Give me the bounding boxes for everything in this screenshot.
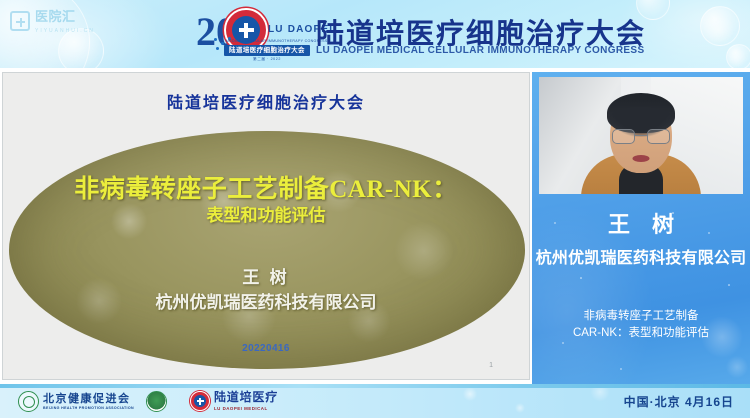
speaker-video-feed[interactable] bbox=[539, 77, 743, 194]
slide-author: 王 树 bbox=[3, 263, 529, 288]
speaker-topic-line2: CAR-NK：表型和功能评估 bbox=[532, 324, 750, 340]
medical-cross-icon bbox=[199, 398, 201, 405]
sponsor-name-en: LU DAOPEI MEDICAL bbox=[214, 406, 278, 411]
event-location-date: 中国·北京 4月16日 bbox=[624, 393, 734, 410]
decorative-bubble bbox=[700, 6, 740, 46]
sponsor-logo-lu-daopei: 陆道培医疗 LU DAOPEI MEDICAL bbox=[190, 391, 278, 411]
speaker-mouth bbox=[633, 155, 650, 162]
site-logo-name: 医院汇 bbox=[35, 9, 76, 24]
footer-bar: 北京健康促进会 BEIJING HEALTH PROMOTION ASSOCIA… bbox=[0, 384, 750, 418]
emblem-congress-en: MEDICAL CELLULAR IMMUNOTHERAPY CONGRESS bbox=[226, 39, 328, 43]
lu-daopei-badge-icon bbox=[190, 391, 210, 411]
slide-title: 非病毒转座子工艺制备CAR-NK： bbox=[3, 169, 529, 205]
speaker-panel: 王 树 杭州优凯瑞医药科技有限公司 非病毒转座子工艺制备 CAR-NK：表型和功… bbox=[532, 72, 750, 384]
site-watermark-logo: 医院汇 YIYUANHUI.CN bbox=[10, 6, 110, 36]
sponsor-logo-green-emblem bbox=[146, 391, 167, 412]
sponsor-name-en: BEIJING HEALTH PROMOTION ASSOCIATION bbox=[43, 406, 134, 410]
speaker-topic-line1: 非病毒转座子工艺制备 bbox=[532, 307, 750, 323]
stage-area: 陆道培医疗细胞治疗大会 非病毒转座子工艺制备CAR-NK： 表型和功能评估 王 … bbox=[0, 68, 750, 384]
presentation-slide[interactable]: 陆道培医疗细胞治疗大会 非病毒转座子工艺制备CAR-NK： 表型和功能评估 王 … bbox=[2, 72, 530, 380]
emblem-edition: 第二届 · 2022 bbox=[224, 57, 310, 62]
slide-organization: 杭州优凯瑞医药科技有限公司 bbox=[3, 288, 529, 313]
slide-date: 20220416 bbox=[3, 343, 529, 354]
ellipse-vignette bbox=[9, 131, 525, 369]
header-title-en: LU DAOPEI MEDICAL CELLULAR IMMUNOTHERAPY… bbox=[316, 45, 644, 56]
speaker-organization: 杭州优凯瑞医药科技有限公司 bbox=[532, 244, 750, 268]
slide-subtitle: 表型和功能评估 bbox=[3, 201, 529, 226]
decorative-bubble bbox=[726, 44, 750, 68]
slide-cell-image-ellipse bbox=[9, 131, 525, 369]
sponsor-logo-beijing-health: 北京健康促进会 BEIJING HEALTH PROMOTION ASSOCIA… bbox=[18, 391, 134, 412]
slide-page-number: 1 bbox=[489, 362, 493, 369]
slide-canvas: 陆道培医疗细胞治疗大会 非病毒转座子工艺制备CAR-NK： 表型和功能评估 王 … bbox=[3, 73, 529, 379]
green-emblem-icon bbox=[146, 391, 167, 412]
emblem-congress-cn: 陆道培医疗细胞治疗大会 bbox=[224, 45, 310, 56]
sponsor-name-cn: 北京健康促进会 bbox=[43, 393, 134, 405]
congress-emblem: 20 LU DAOPEI MEDICAL CELLULAR IMMUNOTHER… bbox=[196, 6, 314, 64]
header-banner: 医院汇 YIYUANHUI.CN 20 LU DAOPEI MEDICAL CE… bbox=[0, 0, 750, 68]
glasses-icon bbox=[612, 129, 670, 144]
beijing-health-ring-icon bbox=[18, 391, 39, 412]
slide-header-text: 陆道培医疗细胞治疗大会 bbox=[3, 89, 529, 113]
footer-divider bbox=[0, 384, 750, 388]
lu-daopei-badge-inner bbox=[194, 395, 206, 407]
speaker-name: 王 树 bbox=[532, 207, 750, 239]
site-logo-sub: YIYUANHUI.CN bbox=[35, 28, 95, 34]
medical-plus-icon bbox=[10, 11, 30, 31]
sponsor-name-cn: 陆道培医疗 bbox=[214, 391, 278, 404]
